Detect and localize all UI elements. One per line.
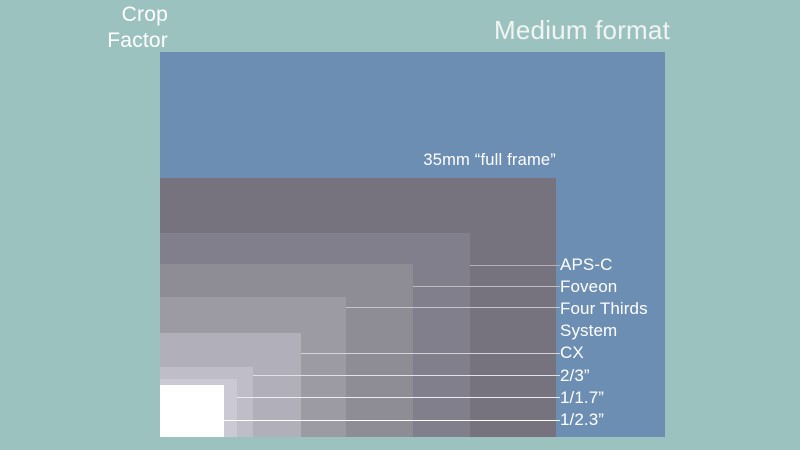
- crop-factor-line-1: Crop: [0, 2, 168, 28]
- label-aps-c: APS-C: [560, 254, 612, 275]
- leader-line-foveon: [413, 286, 560, 287]
- leader-line-one-over-two-point-three: [224, 420, 560, 421]
- crop-factor-title: Crop Factor: [0, 2, 168, 54]
- medium-format-title: Medium format: [380, 14, 670, 46]
- label-1-1-7: 1/1.7”: [560, 387, 604, 408]
- full-frame-title: 35mm “full frame”: [246, 150, 556, 170]
- diagram-canvas: Crop Factor Medium format 35mm “full fra…: [0, 0, 800, 450]
- sensor-rect-innermost: [160, 385, 224, 437]
- label-2-3: 2/3”: [560, 365, 590, 386]
- label-system: System: [560, 320, 617, 341]
- label-1-2-3: 1/2.3”: [560, 409, 604, 430]
- crop-factor-line-2: Factor: [0, 28, 168, 54]
- leader-line-cx: [301, 353, 560, 354]
- leader-line-four-thirds: [346, 307, 560, 308]
- leader-line-aps-c: [470, 265, 560, 266]
- leader-line-two-thirds: [253, 375, 560, 376]
- label-four-thirds: Four Thirds: [560, 298, 648, 319]
- label-cx: CX: [560, 342, 584, 363]
- leader-line-one-over-one-point-seven: [237, 397, 560, 398]
- label-foveon: Foveon: [560, 276, 617, 297]
